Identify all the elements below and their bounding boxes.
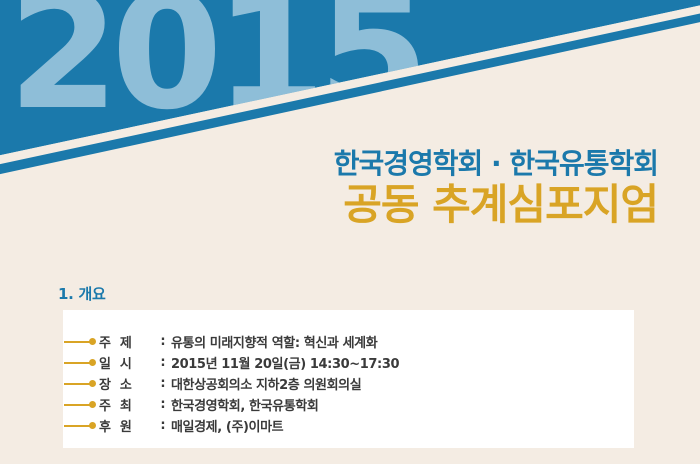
info-value: 유통의 미래지향적 역할: 혁신과 세계화 [171, 332, 377, 351]
list-item: 주 제 : 유통의 미래지향적 역할: 혁신과 세계화 [63, 331, 634, 352]
info-value: 대한상공회의소 지하2층 의원회의실 [171, 374, 361, 393]
info-value: 매일경제, (주)이마트 [171, 416, 283, 435]
bullet-marker-icon [63, 373, 99, 394]
info-value: 한국경영학회, 한국유통학회 [171, 395, 318, 414]
bullet-marker-icon [63, 352, 99, 373]
overview-info-card: 주 제 : 유통의 미래지향적 역할: 혁신과 세계화 일 시 : 2015년 … [63, 310, 634, 448]
list-item: 일 시 : 2015년 11월 20일(금) 14:30~17:30 [63, 352, 634, 373]
poster-title-block: 한국경영학회 · 한국유통학회 공동 추계심포지엄 [334, 148, 658, 229]
info-colon: : [155, 376, 171, 391]
info-colon: : [155, 397, 171, 412]
info-label: 주 제 [99, 332, 155, 351]
info-colon: : [155, 355, 171, 370]
info-label: 주 최 [99, 395, 155, 414]
bullet-marker-icon [63, 331, 99, 352]
list-item: 후 원 : 매일경제, (주)이마트 [63, 415, 634, 436]
bullet-marker-icon [63, 415, 99, 436]
info-label: 장 소 [99, 374, 155, 393]
overview-info-list: 주 제 : 유통의 미래지향적 역할: 혁신과 세계화 일 시 : 2015년 … [63, 331, 634, 436]
info-colon: : [155, 334, 171, 349]
info-value: 2015년 11월 20일(금) 14:30~17:30 [171, 353, 399, 372]
info-label: 후 원 [99, 416, 155, 435]
section-heading-overview: 1. 개요 [58, 283, 105, 304]
info-colon: : [155, 418, 171, 433]
poster-title-organizations: 한국경영학회 · 한국유통학회 [334, 148, 658, 179]
poster-title-event: 공동 추계심포지엄 [334, 181, 658, 229]
info-label: 일 시 [99, 353, 155, 372]
poster-root: 2015 한국경영학회 · 한국유통학회 공동 추계심포지엄 1. 개요 주 제… [0, 0, 700, 464]
poster-header: 2015 [0, 0, 700, 270]
list-item: 주 최 : 한국경영학회, 한국유통학회 [63, 394, 634, 415]
list-item: 장 소 : 대한상공회의소 지하2층 의원회의실 [63, 373, 634, 394]
bullet-marker-icon [63, 394, 99, 415]
